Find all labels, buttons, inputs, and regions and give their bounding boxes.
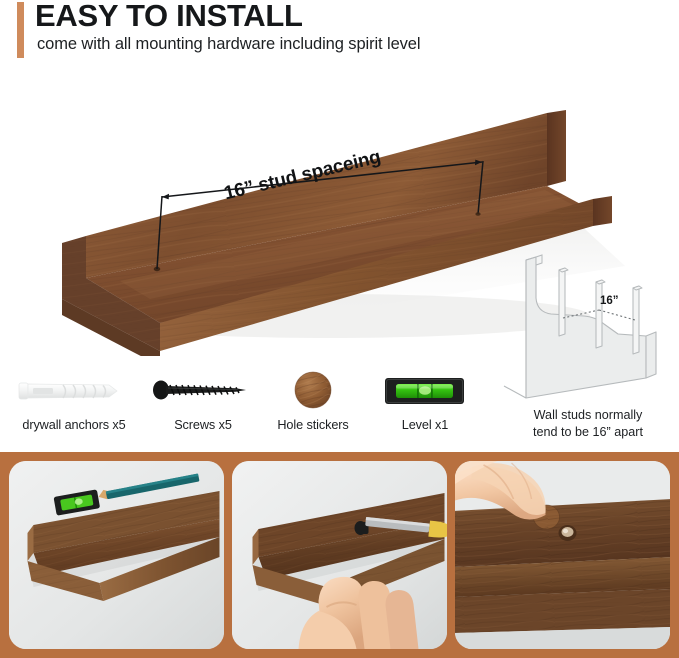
stud-caption-line-1: Wall studs normally — [500, 407, 676, 424]
screw-hole — [559, 525, 577, 541]
hardware-label-screws: Screws x5 — [143, 418, 263, 432]
hardware-item-screws: Screws x5 — [143, 368, 263, 432]
photo-hole-sticker — [455, 461, 670, 649]
photo-screwdriver-install — [232, 461, 447, 649]
install-infographic: EASY TO INSTALL come with all mounting h… — [0, 0, 679, 658]
page-title: EASY TO INSTALL — [35, 0, 303, 34]
hole-sticker-icon — [258, 368, 368, 414]
wall-stud-illustration: 16” — [496, 246, 676, 406]
header: EASY TO INSTALL come with all mounting h… — [0, 0, 679, 66]
installation-steps-strip — [0, 452, 679, 658]
photo-level-on-shelf — [9, 461, 224, 649]
install-step-panel-hole-sticker — [455, 461, 670, 649]
stud-1 — [559, 268, 565, 336]
wall-stud-diagram: 16” — [496, 246, 676, 406]
page-subtitle: come with all mounting hardware includin… — [37, 35, 420, 54]
install-step-panel-level — [9, 461, 224, 649]
screw-icon — [143, 368, 263, 414]
hardware-item-level: Level x1 — [366, 368, 484, 432]
stud-2 — [596, 280, 602, 348]
hardware-label-level: Level x1 — [366, 418, 484, 432]
stud-caption-line-2: tend to be 16” apart — [500, 424, 676, 441]
included-hardware-list: drywall anchors x5 — [0, 368, 492, 446]
stud-diagram-caption: Wall studs normally tend to be 16” apart — [500, 407, 676, 441]
hardware-label-drywall-anchors: drywall anchors x5 — [6, 418, 142, 432]
accent-bar — [17, 2, 24, 58]
hardware-item-hole-stickers: Hole stickers — [258, 368, 368, 432]
drywall-anchor-icon — [6, 368, 142, 414]
spirit-level-icon — [366, 368, 484, 414]
stud-measure-label: 16” — [600, 295, 619, 307]
screwdriver-handle — [428, 521, 447, 540]
hardware-label-hole-stickers: Hole stickers — [258, 418, 368, 432]
install-step-panel-screwdriver — [232, 461, 447, 649]
hardware-item-drywall-anchors: drywall anchors x5 — [6, 368, 142, 432]
